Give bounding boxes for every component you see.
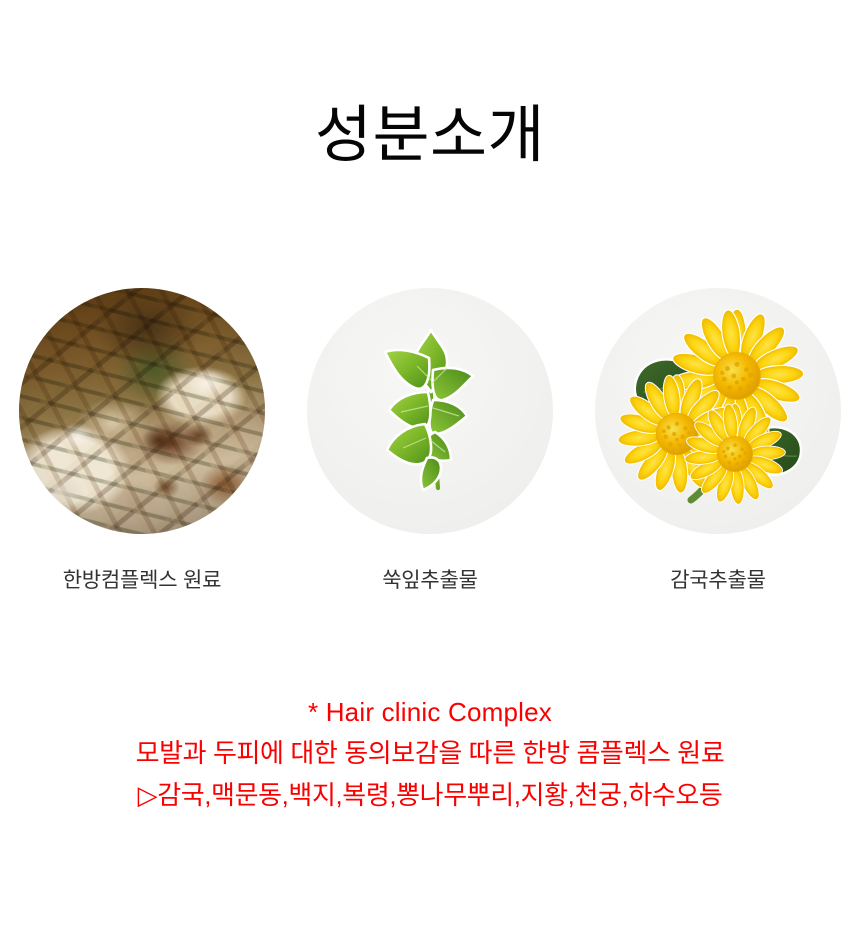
page-title: 성분소개 [0,96,860,176]
ingredient-item-chrysanthemum: 감국추출물 [595,288,841,596]
dried-herbal-complex-photo [19,288,265,534]
chrysanthemum-flower-photo [595,288,841,534]
ingredient-label: 감국추출물 [670,566,766,596]
mugwort-leaf-photo [307,288,553,534]
note-line-1: * Hair clinic Complex [0,692,860,732]
ingredient-item-mugwort: 쑥잎추출물 [307,288,553,596]
ingredient-label: 한방컴플렉스 원료 [63,566,222,596]
ingredient-item-herbal-complex: 한방컴플렉스 원료 [19,288,265,596]
ingredient-label: 쑥잎추출물 [382,566,478,596]
hair-clinic-complex-note: * Hair clinic Complex 모발과 두피에 대한 동의보감을 따… [0,692,860,816]
ingredient-introduction-page: 성분소개 한방컴플렉스 원료 [0,0,860,940]
note-line-3: ▷감국,맥문동,백지,복령,뽕나무뿌리,지황,천궁,하수오등 [0,774,860,816]
note-line-2: 모발과 두피에 대한 동의보감을 따른 한방 콤플렉스 원료 [0,732,860,774]
ingredient-list: 한방컴플렉스 원료 [0,288,860,596]
